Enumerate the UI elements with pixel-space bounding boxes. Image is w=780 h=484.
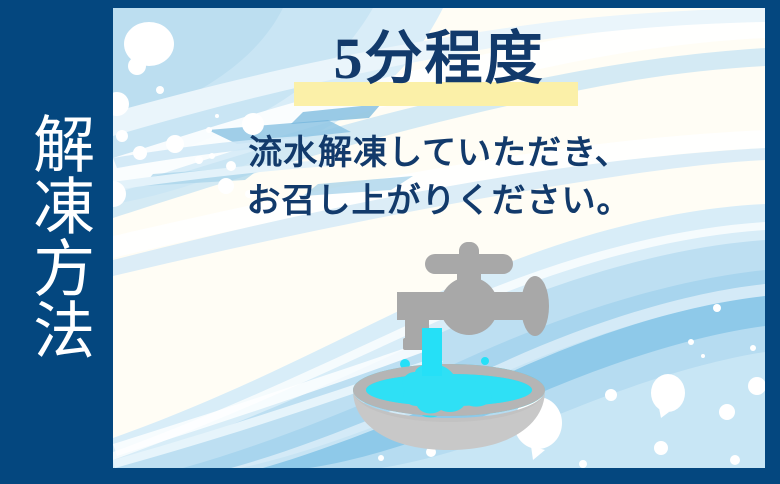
sidebar-vertical-title: 解凍方法 [0,112,113,362]
faucet-bowl-illustration [333,240,573,460]
faucet-icon [397,242,549,350]
bowl-icon [353,328,545,450]
content-panel: 5分程度 流水解凍していただき、 お召し上がりください。 [113,8,765,468]
thawing-instructions-banner: 5分程度 流水解凍していただき、 お召し上がりください。 [0,0,780,484]
sidebar: 解凍方法 [0,0,113,484]
